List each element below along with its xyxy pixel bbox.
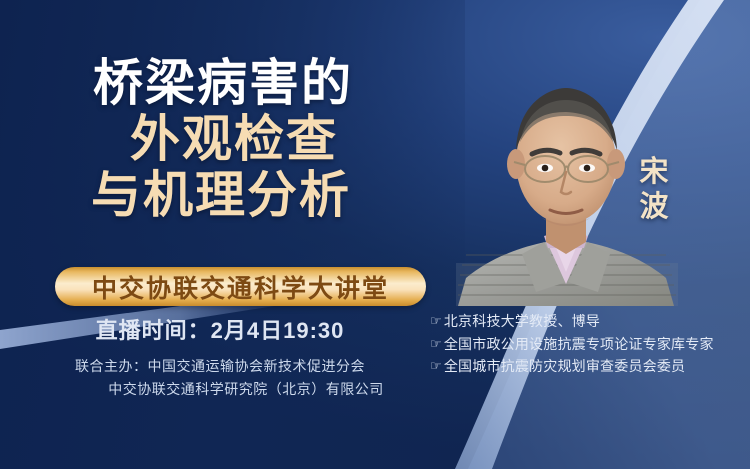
page-title: 桥梁病害的 外观检查 与机理分析 (0, 58, 440, 220)
title-line-1: 桥梁病害的 (0, 58, 440, 108)
pointing-hand-icon: ☞ (430, 334, 442, 355)
speaker-credentials-list: ☞ 北京科技大学教授、博导 ☞ 全国市政公用设施抗震专项论证专家库专家 ☞ 全国… (430, 310, 748, 378)
organizers-block: 联合主办：中国交通运输协会新技术促进分会 中交协联交通科学研究院（北京）有限公司 (0, 355, 440, 401)
pointing-hand-icon: ☞ (430, 356, 442, 377)
speaker-name-char-2: 波 (632, 190, 676, 225)
title-line-2: 外观检查 (0, 114, 440, 164)
program-banner-label: 中交协联交通科学大讲堂 (92, 269, 389, 305)
credential-item: ☞ 北京科技大学教授、博导 (430, 310, 748, 333)
speaker-name: 宋 波 (632, 155, 676, 226)
webinar-poster: 桥梁病害的 外观检查 与机理分析 中交协联交通科学大讲堂 直播时间：2月4日19… (0, 0, 750, 469)
credential-text-1: 北京科技大学教授、博导 (444, 310, 600, 332)
left-content-column: 桥梁病害的 外观检查 与机理分析 中交协联交通科学大讲堂 直播时间：2月4日19… (0, 0, 440, 469)
credential-item: ☞ 全国城市抗震防灾规划审查委员会委员 (430, 355, 748, 378)
credential-text-2: 全国市政公用设施抗震专项论证专家库专家 (444, 333, 714, 355)
credential-text-3: 全国城市抗震防灾规划审查委员会委员 (444, 355, 685, 377)
pointing-hand-icon: ☞ (430, 311, 442, 332)
credential-item: ☞ 全国市政公用设施抗震专项论证专家库专家 (430, 333, 748, 356)
program-banner-pill: 中交协联交通科学大讲堂 (55, 267, 426, 306)
organizer-line-2: 中交协联交通科学研究院（北京）有限公司 (0, 378, 440, 401)
title-line-3: 与机理分析 (0, 170, 440, 220)
organizer-line-1: 联合主办：中国交通运输协会新技术促进分会 (0, 355, 440, 378)
live-time-text: 直播时间：2月4日19:30 (0, 313, 440, 345)
program-banner: 中交协联交通科学大讲堂 (55, 267, 426, 306)
speaker-name-char-1: 宋 (632, 155, 676, 190)
